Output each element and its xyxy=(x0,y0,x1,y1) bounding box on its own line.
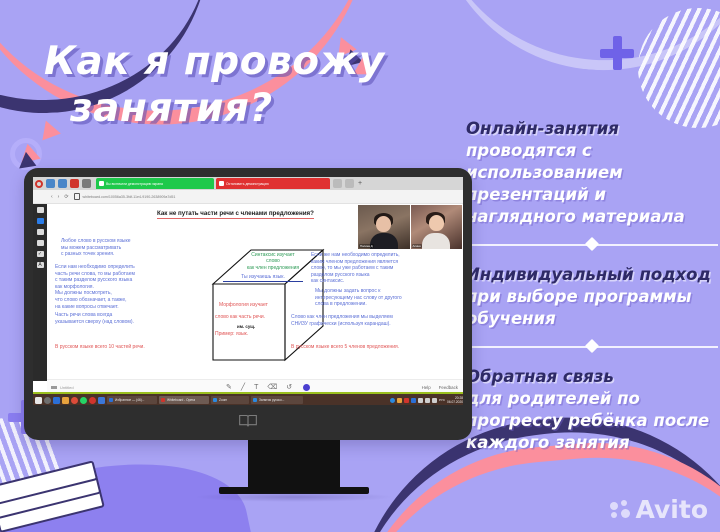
avito-logo-icon xyxy=(610,500,632,520)
books-stack-icon xyxy=(0,459,112,532)
benefit-block-2: Индивидуальный подход при выборе програм… xyxy=(466,264,718,330)
color-swatch[interactable] xyxy=(303,384,310,391)
whiteboard-heading: Как не путать части речи с членами предл… xyxy=(157,210,314,219)
tab-icon[interactable] xyxy=(345,179,354,188)
taskbar-item-label: Избранное — (46)... xyxy=(115,398,144,402)
undo-icon[interactable]: ↺ xyxy=(286,383,292,391)
browser-tab-screenshare[interactable]: Вы включили демонстрацию экрана xyxy=(96,178,214,189)
new-tab-button[interactable]: + xyxy=(358,180,362,187)
whiteboard-toolbar-left[interactable]: ✓ A xyxy=(33,204,47,381)
video-tile[interactable]: Полина Д. xyxy=(358,205,410,249)
video-grid: Полина Д. Алина xyxy=(358,205,462,249)
menu-icon[interactable] xyxy=(37,207,44,213)
wb-left-text-2: Если нам необходимо определить часть реч… xyxy=(55,264,190,310)
board-name[interactable]: Untitled xyxy=(51,385,74,390)
feedback-link[interactable]: Feedback xyxy=(439,385,458,390)
tab-icon[interactable] xyxy=(70,179,79,188)
rect-tool-icon[interactable] xyxy=(37,229,44,235)
wb-left-text-3: Часть речи слова всегда указывается свер… xyxy=(55,312,190,325)
divider xyxy=(466,338,718,356)
cube-front-line-2: слово как часть речи. xyxy=(215,314,299,321)
wb-right-text-3: Слово как член предложения мы выделяем С… xyxy=(291,314,463,327)
benefit-head: Обратная связь xyxy=(466,366,718,388)
taskbar-item[interactable]: Whiteboard - Opera xyxy=(159,396,209,404)
cube-front-line-3: Пример: язык. xyxy=(215,331,299,338)
reload-icon[interactable]: ⟳ xyxy=(64,194,68,200)
lock-icon xyxy=(74,193,80,200)
whiteboard-canvas[interactable]: ✓ A Как не путать части речи с членами п… xyxy=(33,204,463,405)
wb-footer-left: В русском языке всего 10 частей речи. xyxy=(55,344,215,351)
network-icon xyxy=(418,398,423,403)
benefit-body: проводятся с использованием презентаций … xyxy=(466,140,718,228)
taskbar-item[interactable]: Zoom xyxy=(211,396,249,404)
monitor: Вы включили демонстрацию экрана Останови… xyxy=(24,168,472,440)
eraser-tool-icon[interactable]: ⌫ xyxy=(267,383,277,391)
line-tool-icon[interactable]: ╱ xyxy=(241,383,245,391)
monitor-screen: Вы включили демонстрацию экрана Останови… xyxy=(33,177,463,405)
sticky-tool-icon[interactable] xyxy=(37,240,44,246)
poster-root: Как я провожу занятия? Онлайн-занятия пр… xyxy=(0,0,720,532)
tab-title: Вы включили демонстрацию экрана xyxy=(106,182,163,186)
text-tool-icon[interactable]: T xyxy=(254,384,258,391)
battery-icon xyxy=(432,398,437,403)
back-icon[interactable]: ‹ xyxy=(51,194,53,200)
tab-icon[interactable] xyxy=(82,179,91,188)
browser-tabbar: Вы включили демонстрацию экрана Останови… xyxy=(33,177,463,190)
tab-favicon xyxy=(99,181,104,186)
help-link[interactable]: Help xyxy=(422,385,431,390)
text-tool-icon[interactable]: A xyxy=(37,262,44,268)
start-icon[interactable] xyxy=(35,397,42,404)
title-line-1: Как я провожу xyxy=(44,39,385,84)
cube-top-example: Ты изучаешь язык. xyxy=(223,274,303,282)
windows-taskbar[interactable]: Избранное — (46)... Whiteboard - Opera Z… xyxy=(33,392,463,405)
benefit-body: при выборе программы обучения xyxy=(466,286,718,330)
clock[interactable]: 20:28 06.07.2020 xyxy=(447,396,463,404)
opera-icon[interactable] xyxy=(89,397,96,404)
diamond-icon xyxy=(585,237,599,251)
video-tile[interactable]: Алина xyxy=(411,205,463,249)
circle-icon xyxy=(88,468,136,516)
browser-tab-stopshare[interactable]: Остановить демонстрацию xyxy=(216,178,330,189)
monitor-shadow xyxy=(194,492,394,502)
app-icon[interactable] xyxy=(53,397,60,404)
chrome-icon[interactable] xyxy=(71,397,78,404)
title-line-2: занятия? xyxy=(70,85,444,132)
triangle-icon xyxy=(21,144,43,168)
plus-icon xyxy=(600,36,634,70)
avito-wordmark: Avito xyxy=(636,495,708,524)
app-icon[interactable] xyxy=(62,397,69,404)
tab-icon[interactable] xyxy=(46,179,55,188)
forward-icon[interactable]: › xyxy=(58,194,60,200)
cube-front-label: им. сущ. xyxy=(237,324,255,331)
language-indicator[interactable]: РУС xyxy=(439,398,445,402)
pen-tool-icon[interactable]: ✎ xyxy=(226,383,232,391)
monitor-stand-neck xyxy=(248,440,340,490)
participant-name: Полина Д. xyxy=(359,244,374,248)
wb-footer-right: В русском языке всего 5 членов предложен… xyxy=(291,344,463,351)
tray-icon xyxy=(397,398,402,403)
taskbar-item-label: Whiteboard - Opera xyxy=(167,398,195,402)
board-name-text: Untitled xyxy=(60,385,74,390)
cube-front-line-1: Морфология изучает xyxy=(219,302,299,309)
cube-top-text: Синтаксис изучает слово как член предлож… xyxy=(231,252,315,271)
tray-icon xyxy=(404,398,409,403)
check-tool-icon[interactable]: ✓ xyxy=(37,251,44,257)
benefit-block-1: Онлайн-занятия проводятся с использовани… xyxy=(466,118,718,228)
search-icon[interactable] xyxy=(44,397,51,404)
volume-icon xyxy=(425,398,430,403)
tab-icon[interactable] xyxy=(58,179,67,188)
decor-stripes-top-right xyxy=(638,8,720,128)
plus-icon xyxy=(88,482,114,508)
browser-urlbar[interactable]: ‹ › ⟳ whiteboard.com/10056a35-3fdf-11e4-… xyxy=(33,190,463,204)
avito-watermark: Avito xyxy=(610,495,708,524)
benefit-body: для родителей по прогрессу ребёнка после… xyxy=(466,388,718,454)
circle-icon xyxy=(10,138,42,170)
benefit-head: Онлайн-занятия xyxy=(466,118,718,140)
whatsapp-icon[interactable] xyxy=(80,397,87,404)
tray-icon xyxy=(411,398,416,403)
tab-title: Остановить демонстрацию xyxy=(226,182,269,186)
select-tool-icon[interactable] xyxy=(37,218,44,224)
opera-logo-icon xyxy=(35,180,43,188)
benefits-column: Онлайн-занятия проводятся с использовани… xyxy=(466,118,718,460)
diamond-icon xyxy=(585,339,599,353)
app-icon[interactable] xyxy=(98,397,105,404)
benefit-block-3: Обратная связь для родителей по прогресс… xyxy=(466,366,718,454)
tab-favicon xyxy=(219,181,224,186)
decor-arc-soft xyxy=(422,0,720,82)
wb-right-text-2: Мы должны задать вопрос к интересующему … xyxy=(315,288,463,308)
system-tray[interactable]: РУС 20:28 06.07.2020 xyxy=(390,396,463,404)
book-logo-icon xyxy=(238,413,258,428)
participant-name: Алина xyxy=(412,244,422,248)
benefit-head: Индивидуальный подход xyxy=(466,264,718,286)
page-title: Как я провожу занятия? xyxy=(44,38,444,132)
taskbar-item-label: Zoom xyxy=(219,398,227,402)
wb-left-text-1: Любое слово в русском языке мы можем рас… xyxy=(61,238,186,258)
taskbar-item[interactable]: Избранное — (46)... xyxy=(107,396,157,404)
decor-curve-bottom-left xyxy=(0,438,262,532)
url-text: whiteboard.com/10056a35-3fdf-11e4-9190-2… xyxy=(83,195,176,199)
taskbar-item[interactable]: Занятия русско... xyxy=(251,396,303,404)
taskbar-item-label: Занятия русско... xyxy=(259,398,284,402)
tray-icon xyxy=(390,398,395,403)
wb-right-text-1: Если же нам необходимо определить, каким… xyxy=(311,252,461,285)
tab-icon[interactable] xyxy=(333,179,342,188)
divider xyxy=(466,236,718,254)
clock-date: 06.07.2020 xyxy=(447,400,463,404)
